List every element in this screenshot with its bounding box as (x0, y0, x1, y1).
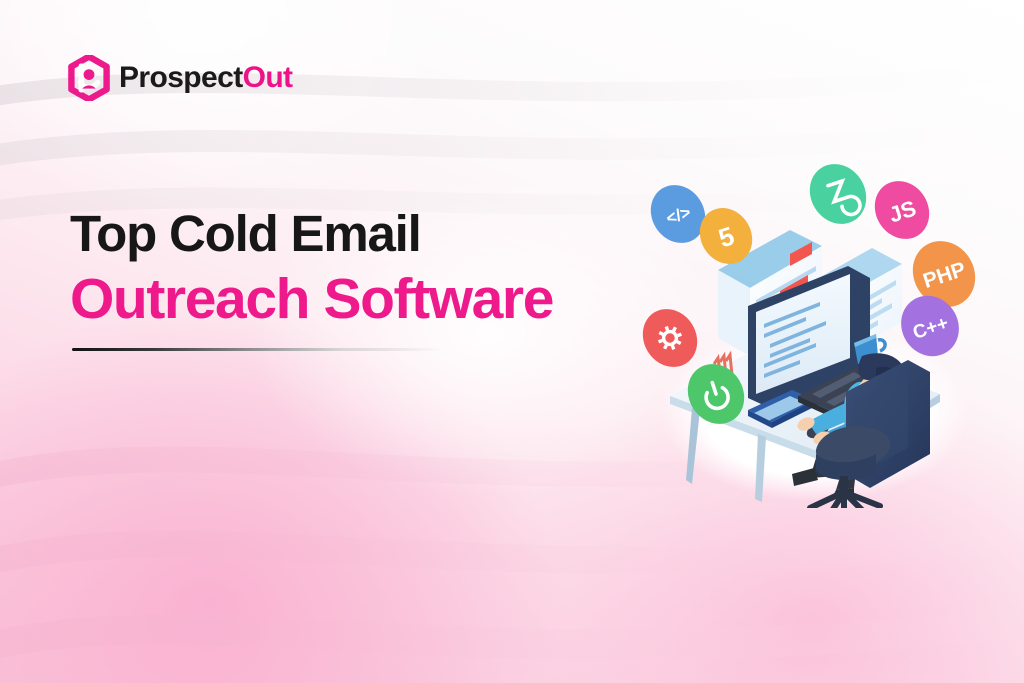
headline-block: Top Cold Email Outreach Software (70, 206, 690, 329)
brand-logo[interactable]: ProspectOut (68, 55, 292, 101)
headline-line-one: Top Cold Email (70, 206, 690, 261)
brand-logo-text: ProspectOut (119, 63, 292, 93)
vue-badge (799, 158, 878, 235)
headline-line-two: Outreach Software (70, 269, 690, 329)
headline-divider (72, 348, 444, 351)
banner-root: ProspectOut Top Cold Email Outreach Soft… (0, 0, 1024, 683)
brand-name-accent: Out (243, 61, 293, 94)
brand-name-primary: Prospect (119, 61, 243, 94)
javascript-badge: JS (864, 171, 940, 249)
developer-at-desk-illustration: </> 5 (640, 158, 990, 508)
prospectout-hexagon-person-icon (68, 55, 110, 101)
